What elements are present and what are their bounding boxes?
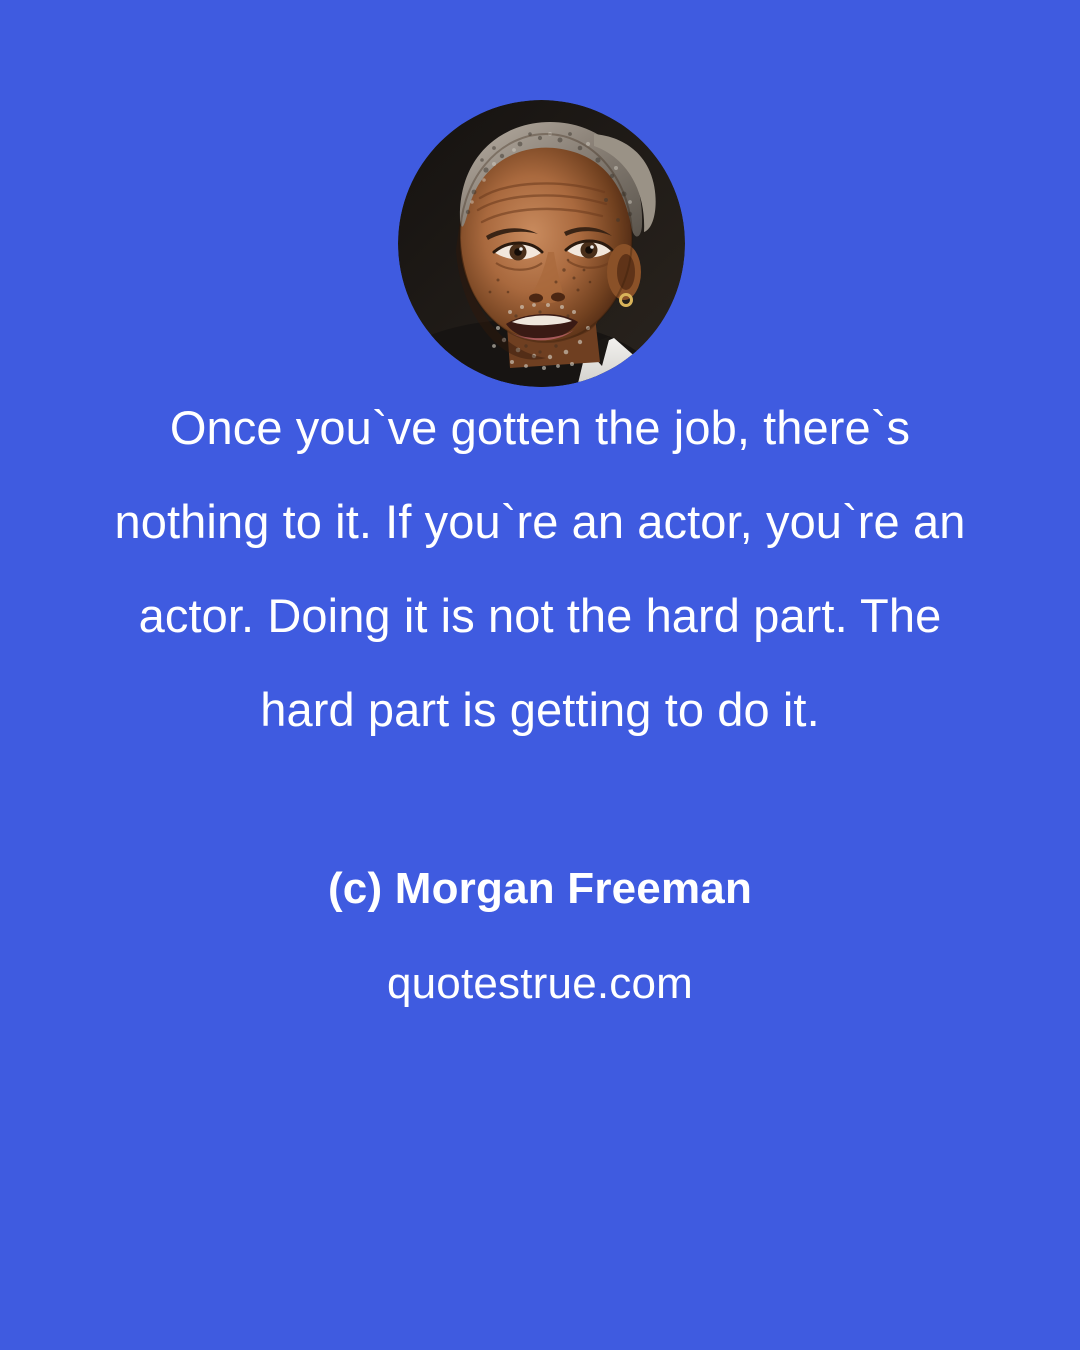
source-website: quotestrue.com — [90, 955, 990, 1013]
quote-text: Once you`ve gotten the job, there`s noth… — [90, 381, 990, 757]
quote-card: Once you`ve gotten the job, there`s noth… — [0, 0, 1080, 1350]
text-stack: Once you`ve gotten the job, there`s noth… — [0, 0, 1080, 1350]
quote-author: (c) Morgan Freeman — [90, 860, 990, 918]
